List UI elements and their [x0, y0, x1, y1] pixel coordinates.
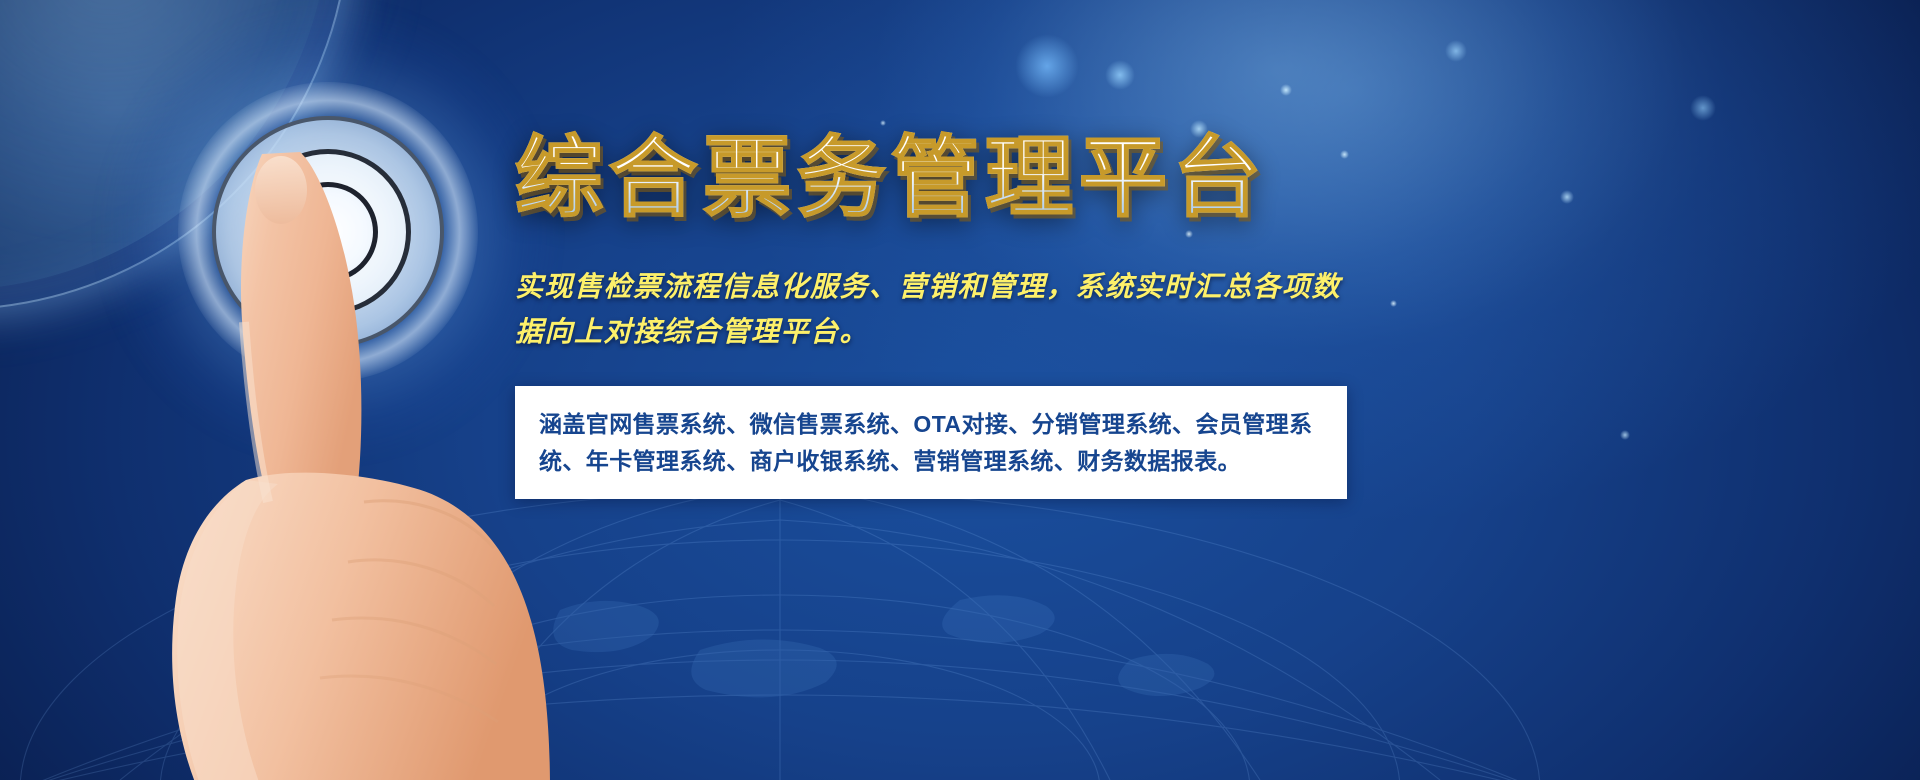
hero-text-column: 综合票务管理平台 实现售检票流程信息化服务、营销和管理，系统实时汇总各项数据向上… — [515, 132, 1375, 499]
feature-info-box: 涵盖官网售票系统、微信售票系统、OTA对接、分销管理系统、会员管理系统、年卡管理… — [515, 386, 1347, 499]
banner-hero: 综合票务管理平台 实现售检票流程信息化服务、营销和管理，系统实时汇总各项数据向上… — [0, 0, 1920, 780]
page-title: 综合票务管理平台 — [515, 132, 1375, 224]
feature-info-text: 涵盖官网售票系统、微信售票系统、OTA对接、分销管理系统、会员管理系统、年卡管理… — [539, 406, 1323, 481]
hero-subtitle: 实现售检票流程信息化服务、营销和管理，系统实时汇总各项数据向上对接综合管理平台。 — [515, 264, 1360, 355]
pointing-hand-icon — [150, 150, 570, 780]
